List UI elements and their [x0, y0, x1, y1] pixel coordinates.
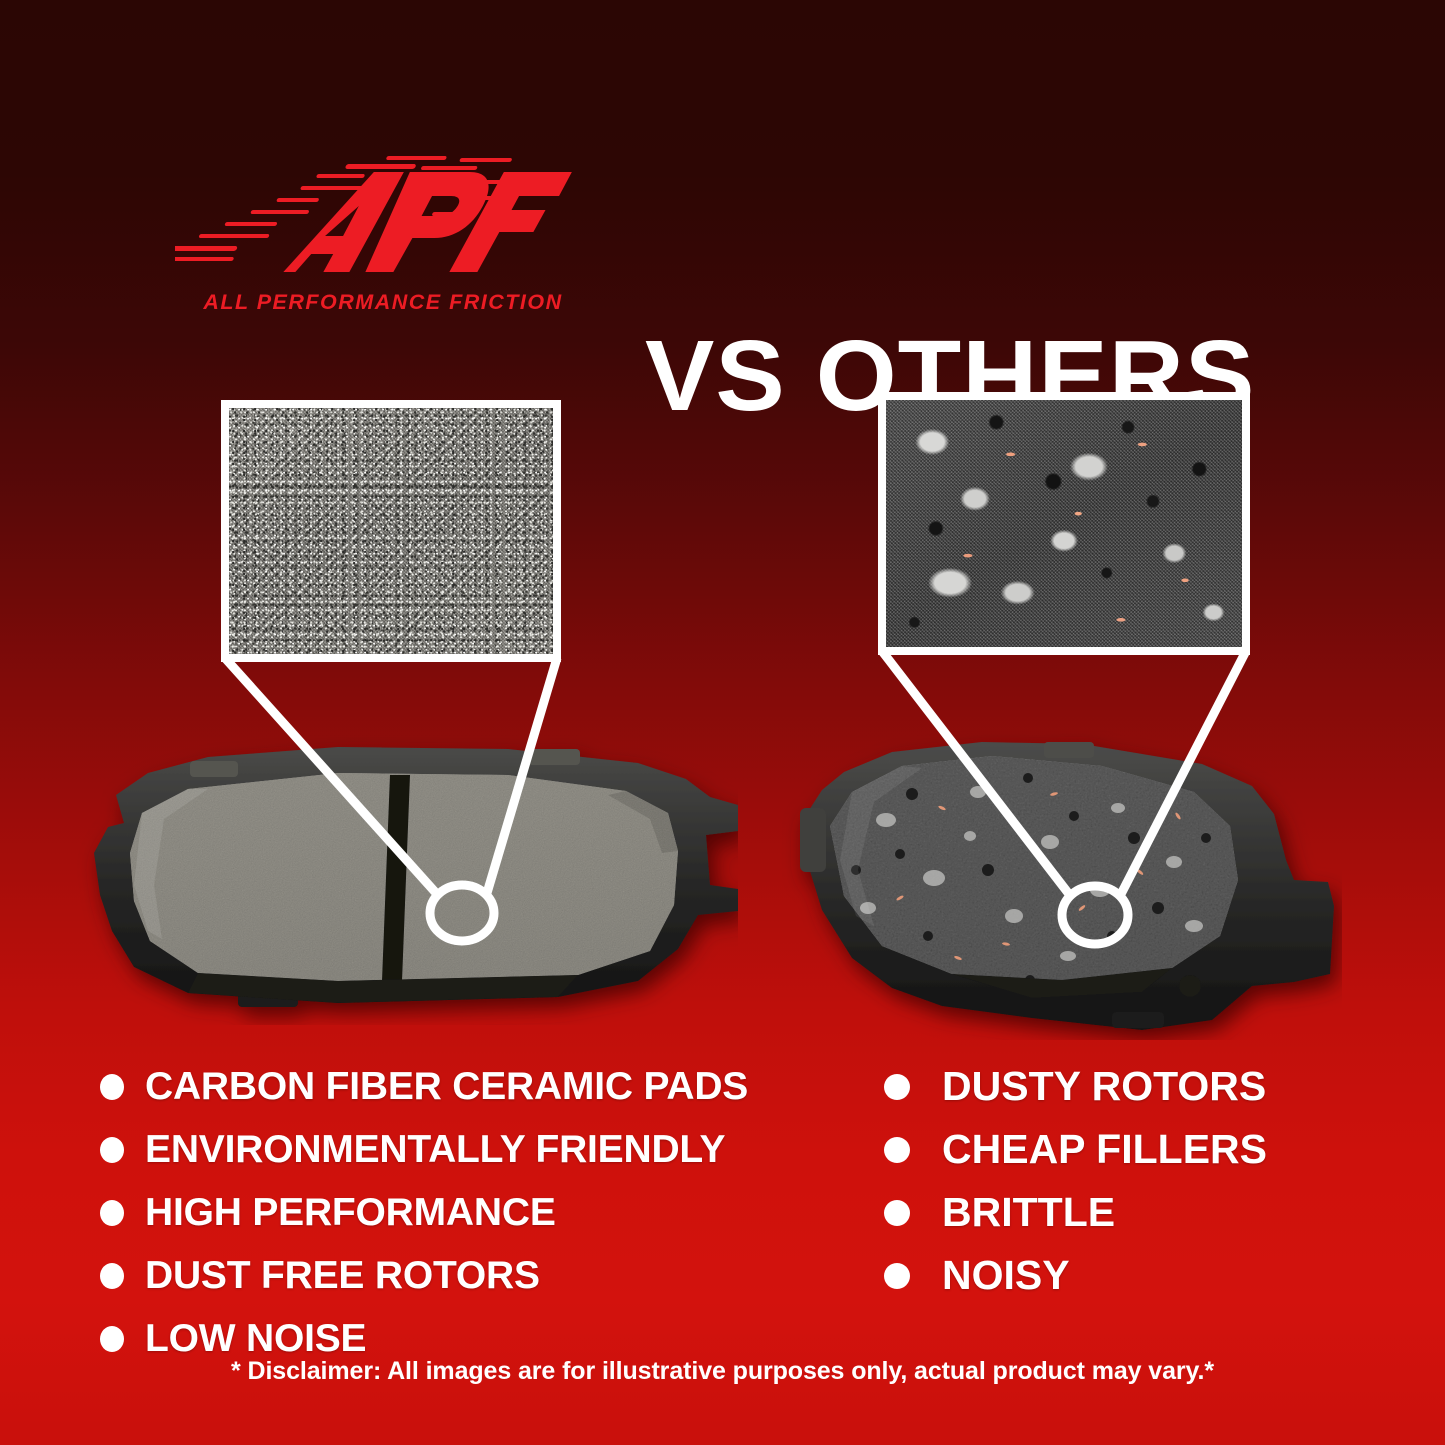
others-texture-image	[886, 400, 1242, 647]
apf-texture-image	[229, 408, 553, 654]
bullet-icon	[100, 1074, 124, 1100]
feature-label: NOISY	[942, 1252, 1070, 1299]
list-item: BRITTLE	[884, 1181, 1354, 1244]
feature-label: HIGH PERFORMANCE	[145, 1191, 556, 1235]
feature-label: DUST FREE ROTORS	[145, 1254, 540, 1298]
disclaimer-text: * Disclaimer: All images are for illustr…	[0, 1357, 1445, 1386]
feature-label: CHEAP FILLERS	[942, 1126, 1267, 1173]
apf-logo-icon	[175, 150, 575, 285]
apf-brake-pad-image	[38, 735, 738, 1025]
comparison-poster: ALL PERFORMANCE FRICTION VS OTHERS	[0, 0, 1445, 1445]
list-item: ENVIRONMENTALLY FRIENDLY	[100, 1118, 820, 1181]
list-item: HIGH PERFORMANCE	[100, 1181, 820, 1244]
feature-label: CARBON FIBER CERAMIC PADS	[145, 1065, 748, 1109]
bullet-icon	[884, 1200, 910, 1226]
feature-label: DUSTY ROTORS	[942, 1063, 1266, 1110]
bullet-icon	[100, 1263, 124, 1289]
list-item: NOISY	[884, 1244, 1354, 1307]
apf-texture-swatch	[221, 400, 561, 662]
brand-logo-block: ALL PERFORMANCE FRICTION	[175, 150, 575, 340]
bullet-icon	[100, 1137, 124, 1163]
header: ALL PERFORMANCE FRICTION VS OTHERS	[0, 150, 1445, 340]
list-item: CHEAP FILLERS	[884, 1118, 1354, 1181]
list-item: CARBON FIBER CERAMIC PADS	[100, 1055, 820, 1118]
others-feature-list: DUSTY ROTORS CHEAP FILLERS BRITTLE NOISY	[884, 1055, 1354, 1307]
feature-label: LOW NOISE	[145, 1317, 366, 1361]
feature-label: BRITTLE	[942, 1189, 1115, 1236]
apf-feature-list: CARBON FIBER CERAMIC PADS ENVIRONMENTALL…	[100, 1055, 820, 1370]
feature-label: ENVIRONMENTALLY FRIENDLY	[145, 1128, 725, 1172]
bullet-icon	[884, 1074, 910, 1100]
list-item: DUSTY ROTORS	[884, 1055, 1354, 1118]
bullet-icon	[100, 1326, 124, 1352]
list-item: DUST FREE ROTORS	[100, 1244, 820, 1307]
bullet-icon	[884, 1137, 910, 1163]
bullet-icon	[884, 1263, 910, 1289]
others-brake-pad-image	[782, 730, 1342, 1040]
others-texture-swatch	[878, 392, 1250, 655]
brand-tagline: ALL PERFORMANCE FRICTION	[183, 290, 583, 315]
bullet-icon	[100, 1200, 124, 1226]
